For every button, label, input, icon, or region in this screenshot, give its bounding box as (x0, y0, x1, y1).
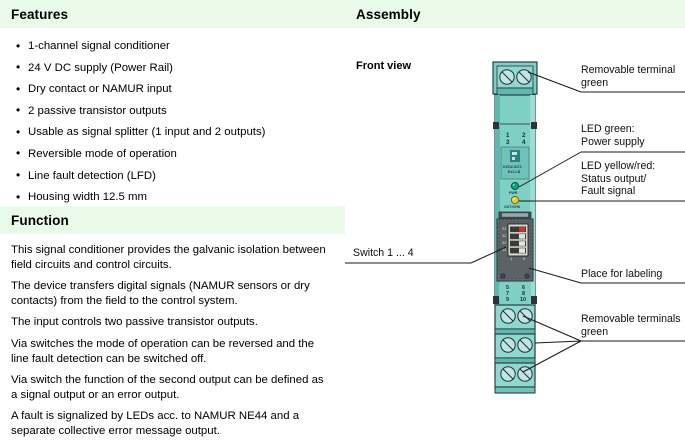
feature-label: Housing width 12.5 mm (28, 191, 147, 203)
callout-removable-terminal-top: Removable terminal green (581, 64, 675, 89)
terminal-block-bottom-3 (495, 363, 535, 387)
dip-switch-bank: 1 0 (508, 224, 528, 261)
bullet-icon: • (16, 40, 20, 53)
callout-switch: Switch 1 ... 4 (353, 247, 414, 260)
callout-led-yellow-red: LED yellow/red: Status output/ Fault sig… (581, 160, 655, 198)
list-item: • 24 V DC supply (Power Rail) (14, 62, 337, 75)
feature-label: Dry contact or NAMUR input (28, 83, 172, 95)
terminal-block-bottom-2 (495, 334, 535, 358)
terminal-block-bottom-1 (495, 305, 535, 329)
callout-led-green: LED green: Power supply (581, 123, 645, 148)
paragraph: The device transfers digital signals (NA… (11, 279, 331, 308)
paragraph: Via switch the function of the second ou… (11, 373, 331, 402)
feature-label: 24 V DC supply (Power Rail) (28, 62, 173, 74)
feature-label: Line fault detection (LFD) (28, 170, 156, 182)
feature-label: Reversible mode of operation (28, 148, 177, 160)
feature-label: Usable as signal splitter (1 input and 2… (28, 126, 265, 138)
list-item: • Reversible mode of operation (14, 148, 337, 161)
features-heading: Features (11, 7, 68, 22)
callout-place-for-labeling: Place for labeling (581, 268, 662, 281)
svg-text:KCD2-SOT-: KCD2-SOT- (503, 165, 523, 169)
bullet-icon: • (16, 147, 20, 160)
left-column: Features • 1-channel signal conditioner … (0, 0, 345, 435)
paragraph: This signal conditioner provides the gal… (11, 243, 331, 272)
svg-text:10: 10 (520, 297, 526, 303)
svg-text:1: 1 (506, 132, 510, 139)
svg-text:9: 9 (506, 297, 509, 303)
function-heading: Function (11, 213, 69, 228)
features-section-header: Features (0, 0, 345, 28)
terminal-block-top (493, 62, 537, 95)
device-housing: 1 2 3 4 KCD2-SOT- Ex1.LB (493, 62, 537, 393)
list-item: • Dry contact or NAMUR input (14, 83, 337, 96)
svg-text:Ex1.LB: Ex1.LB (508, 170, 521, 174)
list-item: • 1-channel signal conditioner (14, 40, 337, 53)
svg-text:2: 2 (522, 132, 526, 139)
bullet-icon: • (16, 104, 20, 117)
paragraph: Via switches the mode of operation can b… (11, 337, 331, 366)
function-section-header: Function (0, 206, 345, 234)
bullet-icon: • (16, 83, 20, 96)
led-status-label: OUT/CHK (504, 205, 521, 209)
led-green-label: PWR (509, 191, 518, 195)
feature-label: 1-channel signal conditioner (28, 40, 170, 52)
svg-text:S2: S2 (502, 234, 506, 238)
bullet-icon: • (16, 61, 20, 74)
bullet-icon: • (16, 126, 20, 139)
list-item: • 2 passive transistor outputs (14, 105, 337, 118)
svg-text:S1: S1 (502, 227, 506, 231)
list-item: • Housing width 12.5 mm (14, 191, 337, 204)
brand-logo-icon (510, 150, 520, 162)
svg-text:4: 4 (522, 139, 526, 146)
feature-label: 2 passive transistor outputs (28, 105, 167, 117)
datasheet-page: Features • 1-channel signal conditioner … (0, 0, 685, 435)
led-yellow-indicator (511, 196, 518, 203)
led-green-indicator (511, 182, 518, 189)
list-item: • Usable as signal splitter (1 input and… (14, 126, 337, 139)
paragraph: A fault is signalized by LEDs acc. to NA… (11, 409, 331, 438)
callout-removable-terminals-bottom: Removable terminals green (581, 313, 681, 338)
svg-text:S3: S3 (502, 241, 506, 245)
svg-text:3: 3 (506, 139, 510, 146)
list-item: • Line fault detection (LFD) (14, 170, 337, 183)
paragraph: The input controls two passive transisto… (11, 315, 331, 330)
function-body: This signal conditioner provides the gal… (0, 234, 345, 439)
bullet-icon: • (16, 191, 20, 204)
right-column: Assembly Front view (345, 0, 685, 435)
bullet-icon: • (16, 169, 20, 182)
features-list: • 1-channel signal conditioner • 24 V DC… (0, 28, 345, 226)
